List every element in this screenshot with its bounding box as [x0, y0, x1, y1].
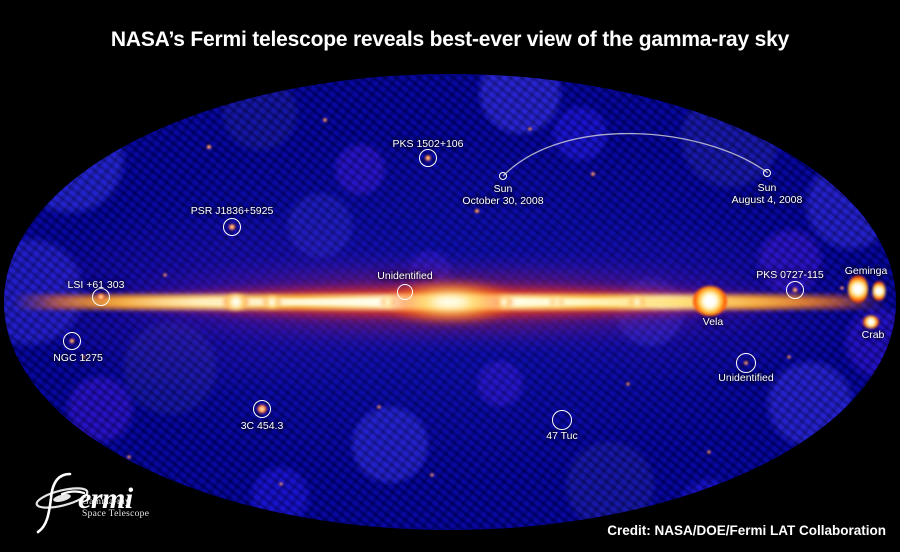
page-title: NASA’s Fermi telescope reveals best-ever… — [0, 28, 900, 52]
label-unid-right: Unidentified — [718, 372, 773, 385]
fermi-logo-line1: Gamma-ray — [82, 496, 149, 508]
marker-unid-center — [397, 284, 413, 300]
source-geminga-companion — [873, 281, 886, 301]
field-source — [528, 127, 532, 130]
marker-ngc-1275 — [63, 332, 81, 350]
field-source — [163, 273, 167, 276]
field-source — [787, 355, 791, 358]
field-source — [377, 405, 381, 408]
field-source — [430, 474, 434, 477]
field-source — [474, 209, 479, 213]
marker-sun-oct — [499, 172, 507, 180]
marker-unid-right — [736, 353, 756, 373]
source-geminga — [848, 275, 868, 303]
label-47-tuc: 47 Tuc — [546, 430, 578, 443]
label-pks-1502: PKS 1502+106 — [393, 138, 464, 151]
label-unid-center: Unidentified — [377, 270, 432, 283]
marker-sun-aug — [763, 169, 771, 177]
marker-3c-454 — [253, 400, 271, 418]
source-crab — [863, 316, 879, 329]
fermi-logo-line2: Space Telescope — [82, 508, 149, 520]
plane-knot — [551, 298, 564, 307]
plane-knot — [263, 296, 281, 308]
marker-psr-j1836 — [223, 218, 241, 236]
label-pks-0727: PKS 0727-115 — [756, 269, 824, 282]
label-crab: Crab — [862, 329, 885, 342]
plane-knot — [381, 297, 395, 307]
label-sun-oct-date: October 30, 2008 — [462, 195, 543, 208]
field-source — [707, 451, 711, 454]
label-3c-454: 3C 454.3 — [241, 420, 284, 433]
field-source — [626, 383, 630, 386]
label-vela: Vela — [703, 316, 723, 329]
marker-pks-1502 — [419, 149, 437, 167]
plane-knot — [223, 294, 249, 310]
field-source — [591, 172, 595, 176]
label-ngc-1275: NGC 1275 — [53, 352, 103, 365]
fermi-logo-subtitle: Gamma-ray Space Telescope — [82, 496, 149, 520]
marker-47-tuc — [552, 410, 572, 430]
field-source — [127, 456, 131, 459]
field-source — [840, 287, 844, 290]
label-psr-j1836: PSR J1836+5925 — [191, 205, 274, 218]
field-source — [323, 118, 327, 122]
source-vela — [693, 286, 727, 316]
fermi-sky-map-image: NASA’s Fermi telescope reveals best-ever… — [0, 0, 900, 552]
plane-knot — [630, 297, 645, 307]
marker-pks-0727 — [786, 281, 804, 299]
label-sun-aug-date: August 4, 2008 — [732, 194, 803, 207]
plane-knot — [496, 297, 512, 308]
label-geminga: Geminga — [845, 265, 888, 278]
field-source — [207, 145, 212, 149]
fermi-logo: ermi Gamma-ray Space Telescope — [26, 468, 216, 538]
label-lsi-61: LSI +61 303 — [68, 279, 125, 292]
field-source — [279, 483, 283, 486]
credit-line: Credit: NASA/DOE/Fermi LAT Collaboration — [607, 523, 886, 538]
